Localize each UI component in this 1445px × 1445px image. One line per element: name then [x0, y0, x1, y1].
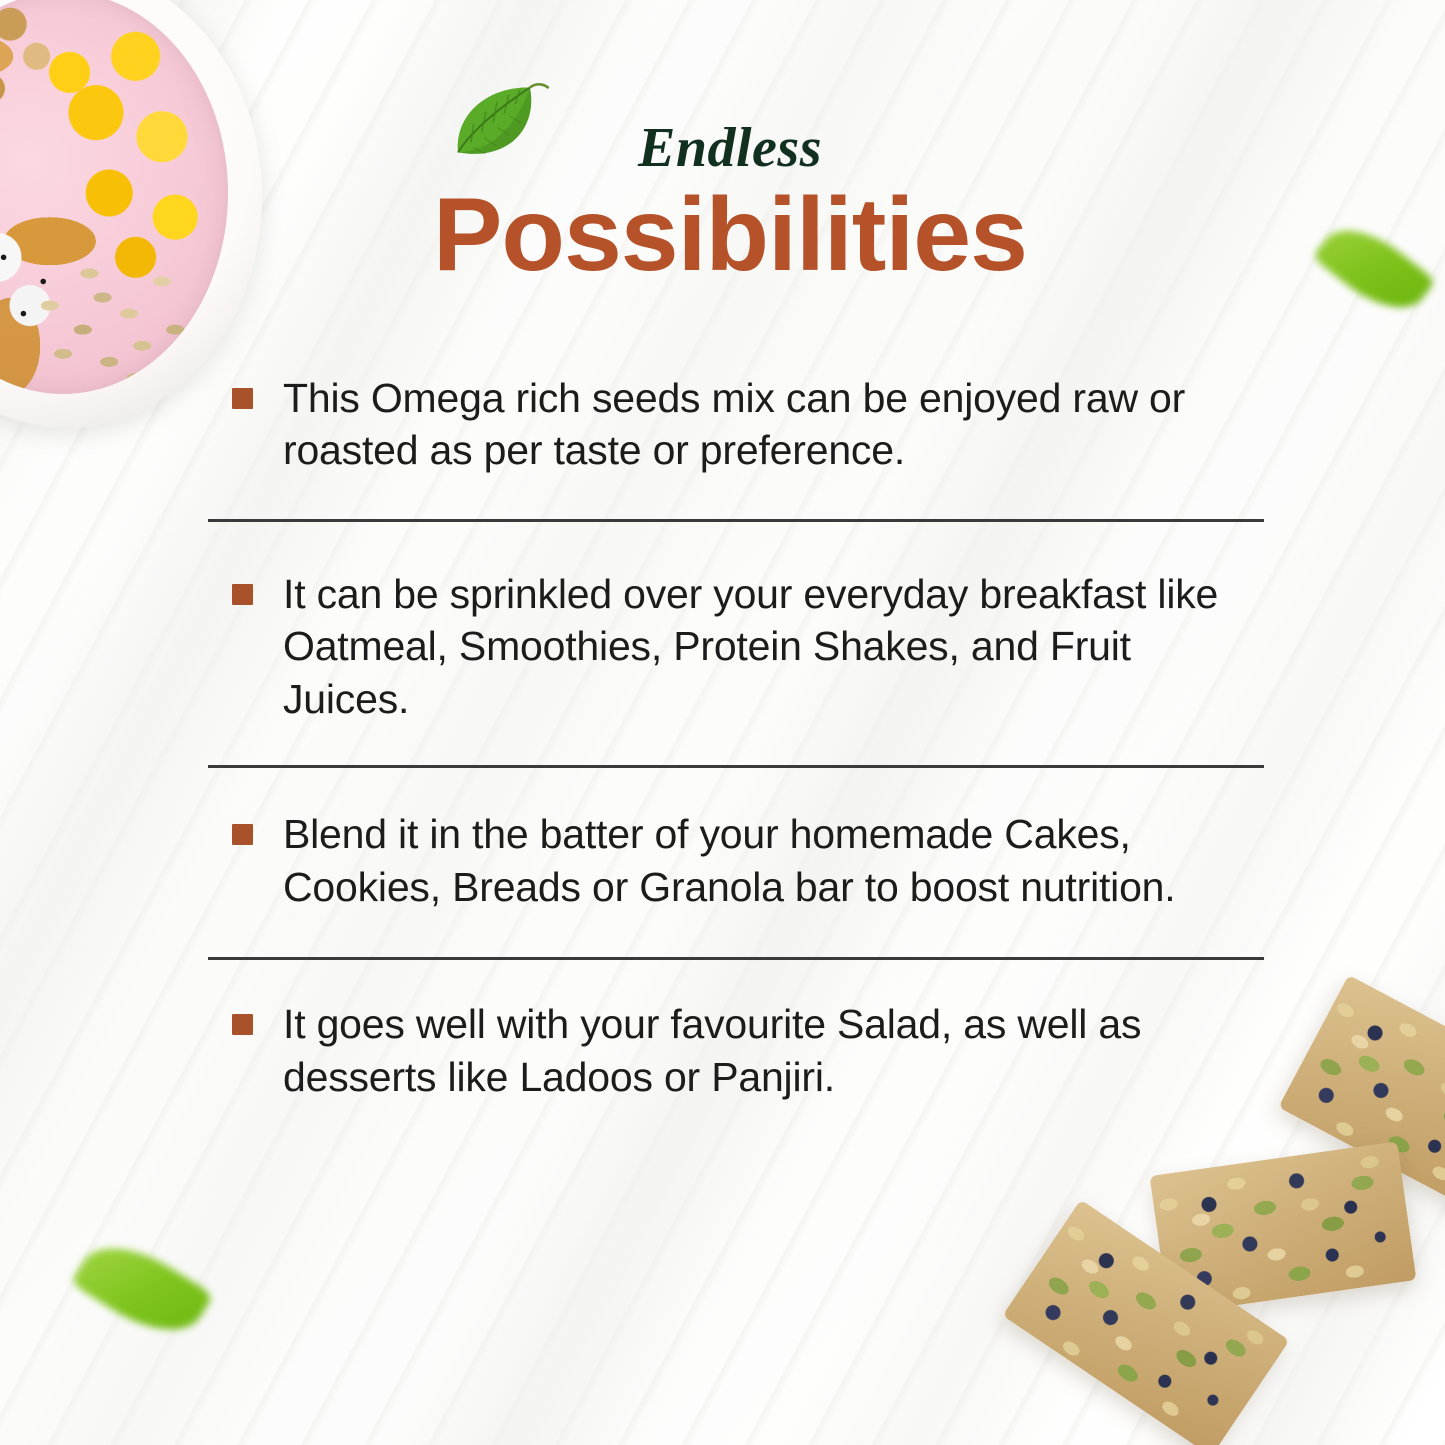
- list-item-label: It can be sprinkled over your everyday b…: [283, 568, 1248, 725]
- bullet-square-icon: [232, 1014, 253, 1035]
- list-item: It goes well with your favourite Salad, …: [208, 998, 1264, 1103]
- spacer: [208, 768, 1264, 808]
- title-script-line: Endless: [420, 120, 1040, 176]
- spacer: [208, 913, 1264, 957]
- spacer: [208, 960, 1264, 998]
- list-item: It can be sprinkled over your everyday b…: [208, 568, 1264, 725]
- list-item-label: Blend it in the batter of your homemade …: [283, 808, 1248, 913]
- endless-possibilities-poster: Endless Possibilities This Omega rich se…: [0, 0, 1445, 1445]
- leaf-icon: [70, 1227, 214, 1351]
- smoothie-bowl-image: [0, 0, 262, 428]
- bowl-contents: [0, 0, 228, 394]
- page-title: Endless Possibilities: [420, 120, 1040, 288]
- sunflower-seeds: [0, 0, 228, 394]
- spacer: [208, 522, 1264, 568]
- list-item-label: It goes well with your favourite Salad, …: [283, 998, 1248, 1103]
- list-item-label: This Omega rich seeds mix can be enjoyed…: [283, 372, 1248, 477]
- bullet-square-icon: [232, 388, 253, 409]
- list-item: Blend it in the batter of your homemade …: [208, 808, 1264, 913]
- bullet-square-icon: [232, 824, 253, 845]
- leaf-icon: [1312, 212, 1436, 327]
- title-main-line: Possibilities: [420, 182, 1040, 288]
- spacer: [208, 725, 1264, 765]
- bullet-square-icon: [232, 584, 253, 605]
- spacer: [208, 477, 1264, 519]
- benefits-list: This Omega rich seeds mix can be enjoyed…: [208, 372, 1264, 1103]
- list-item: This Omega rich seeds mix can be enjoyed…: [208, 372, 1264, 477]
